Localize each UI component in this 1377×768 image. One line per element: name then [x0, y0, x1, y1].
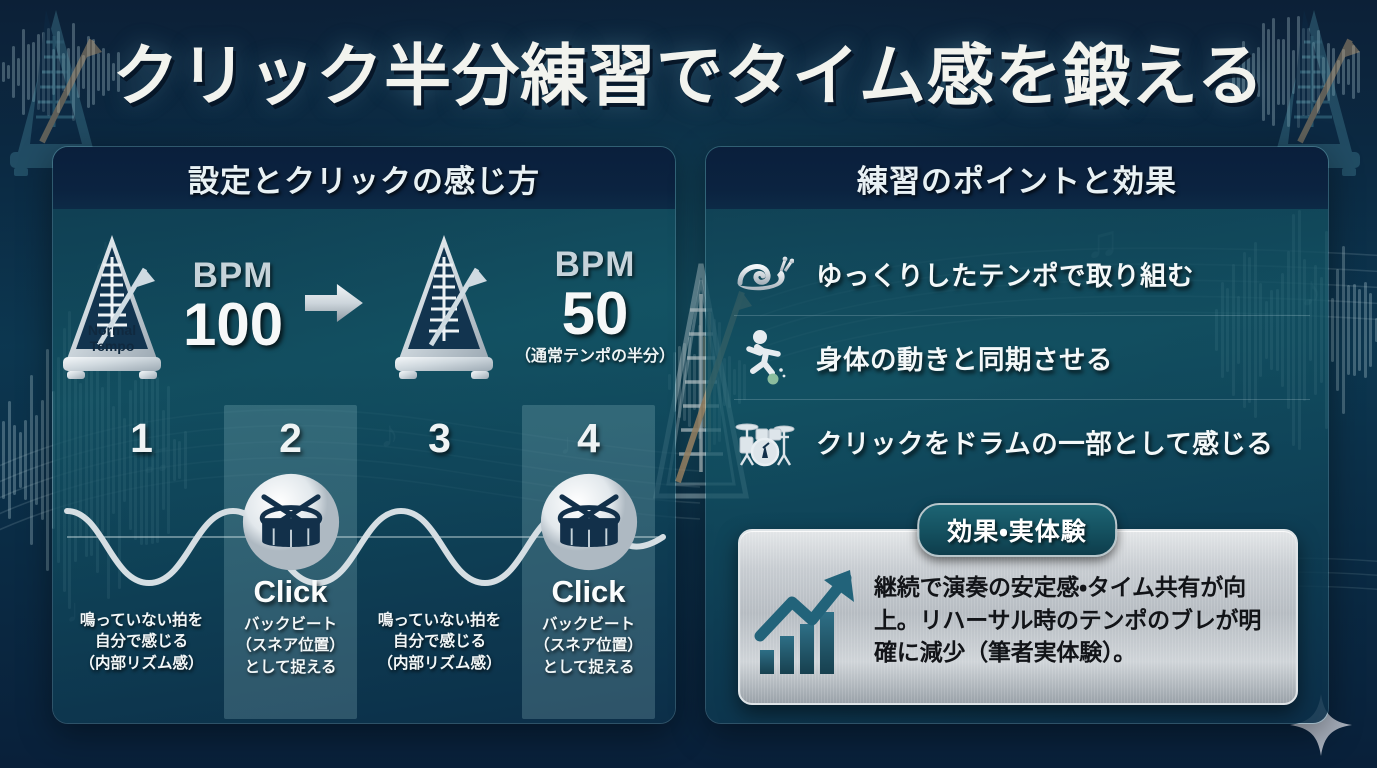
- metronome-icon-normal-tempo: Normal Tempo: [53, 231, 171, 381]
- metronome-label-line2: Tempo: [90, 338, 135, 354]
- status-badge-label: 効果・実体験: [947, 518, 1087, 546]
- beat-number: 2: [216, 415, 365, 462]
- list-item-label: 身体の動きと同期させる: [816, 338, 1113, 377]
- waveform-bar: [693, 354, 696, 410]
- right-arrow-icon: [303, 280, 365, 326]
- infographic-canvas: ♪ ♫ ♪ ♩ ♫ ♪ ♪ ♩: [0, 0, 1377, 768]
- waveform-bar: [19, 432, 22, 487]
- list-item-label: クリックをドラムの一部として感じる: [816, 422, 1273, 461]
- waveform-bar: [35, 415, 38, 505]
- waveform-bar: [1336, 269, 1339, 392]
- status-badge: 効果・実体験: [917, 503, 1117, 557]
- beat-click-slot: [365, 472, 514, 610]
- snare-drum-icon: [239, 472, 343, 572]
- waveform-bar: [41, 400, 44, 521]
- beat-number: 3: [365, 415, 514, 462]
- waveform-bar: [1353, 284, 1356, 377]
- header: クリック半分練習でタイム感を鍛える: [0, 10, 1377, 130]
- click-label: Click: [551, 574, 625, 610]
- bpm-label-after: BPM: [555, 247, 636, 282]
- beat-caption: バックビート（スネア位置）として捉える: [216, 614, 365, 678]
- beat-column: 2Clickバックビート（スネア位置）として捉える: [216, 399, 365, 711]
- beat-number: 4: [514, 415, 663, 462]
- beat-caption: 鳴っていない拍を自分で感じる（内部リズム感）: [67, 610, 216, 674]
- running-person-icon: [734, 329, 796, 387]
- bpm-value-after: 50: [562, 284, 629, 344]
- beat-click-slot: Click: [216, 472, 365, 610]
- beat-click-slot: Click: [514, 472, 663, 610]
- growth-chart-icon: [754, 562, 864, 678]
- snail-icon: [734, 251, 796, 295]
- list-item: 身体の動きと同期させる: [734, 315, 1310, 399]
- click-label: Click: [253, 574, 327, 610]
- beat-column: 3鳴っていない拍を自分で感じる（内部リズム感）: [365, 399, 514, 711]
- bpm-value-before: 100: [183, 295, 283, 355]
- beat-caption: 鳴っていない拍を自分で感じる（内部リズム感）: [365, 610, 514, 674]
- bpm-after-note: （通常テンポの半分）: [515, 349, 675, 365]
- waveform-bar: [1364, 282, 1367, 377]
- beat-grid: 1鳴っていない拍を自分で感じる（内部リズム感）2Clickバックビート（スネア位…: [67, 399, 663, 711]
- tempo-before-block: Normal Tempo BPM 100: [53, 231, 283, 381]
- metronome-icon-half-tempo: [385, 231, 503, 381]
- bpm-before-text: BPM 100: [183, 258, 283, 355]
- waveform-bar: [2, 421, 5, 498]
- panel-settings-and-click-feel: 設定とクリックの感じ方: [52, 146, 676, 724]
- waveform-bar: [1347, 285, 1350, 376]
- list-item-label: ゆっくりしたテンポで取り組む: [816, 254, 1194, 293]
- panel-left-title: 設定とクリックの感じ方: [188, 156, 540, 201]
- beat-number: 1: [67, 415, 216, 462]
- waveform-bar: [8, 401, 11, 518]
- panel-right-header: 練習のポイントと効果: [706, 147, 1328, 209]
- bpm-after-text: BPM 50 （通常テンポの半分）: [515, 247, 675, 365]
- waveform-bar: [24, 420, 27, 499]
- snare-drum-icon: [537, 472, 641, 572]
- drum-kit-icon: [734, 415, 796, 469]
- waveform-bar: [1358, 289, 1361, 371]
- waveform-bar: [1369, 293, 1372, 367]
- panel-left-header: 設定とクリックの感じ方: [53, 147, 675, 209]
- bpm-label-before: BPM: [193, 258, 274, 293]
- panel-right-title: 練習のポイントと効果: [857, 156, 1177, 201]
- beat-column: 4Clickバックビート（スネア位置）として捉える: [514, 399, 663, 711]
- beat-column: 1鳴っていない拍を自分で感じる（内部リズム感）: [67, 399, 216, 711]
- list-item: ゆっくりしたテンポで取り組む: [734, 231, 1310, 315]
- waveform-bar: [1342, 246, 1345, 413]
- waveform-bar: [46, 349, 49, 571]
- bpm-conversion-row: Normal Tempo BPM 100: [53, 221, 675, 391]
- waveform-bar: [698, 325, 701, 440]
- effect-description: 継続で演奏の安定感・タイム共有が向上。リハーサル時のテンポのブレが明確に減少（筆…: [874, 571, 1278, 669]
- page-title: クリック半分練習でタイム感を鍛える: [112, 22, 1265, 119]
- panel-practice-points-and-effects: 練習のポイントと効果: [705, 146, 1329, 724]
- beat-caption: バックビート（スネア位置）として捉える: [514, 614, 663, 678]
- waveform-bar: [1331, 298, 1334, 362]
- practice-point-list: ゆっくりしたテンポで取り組む 身体の動きと同期させる: [734, 231, 1310, 483]
- waveform-bar: [678, 346, 681, 418]
- waveform-bar: [30, 375, 33, 546]
- waveform-bar: [683, 343, 686, 420]
- metronome-label-line1: Normal: [88, 322, 136, 338]
- tempo-after-block: BPM 50 （通常テンポの半分）: [385, 231, 675, 381]
- list-item: クリックをドラムの一部として感じる: [734, 399, 1310, 483]
- beat-click-slot: [67, 472, 216, 610]
- waveform-bar: [13, 425, 16, 495]
- waveform-bar: [688, 337, 691, 426]
